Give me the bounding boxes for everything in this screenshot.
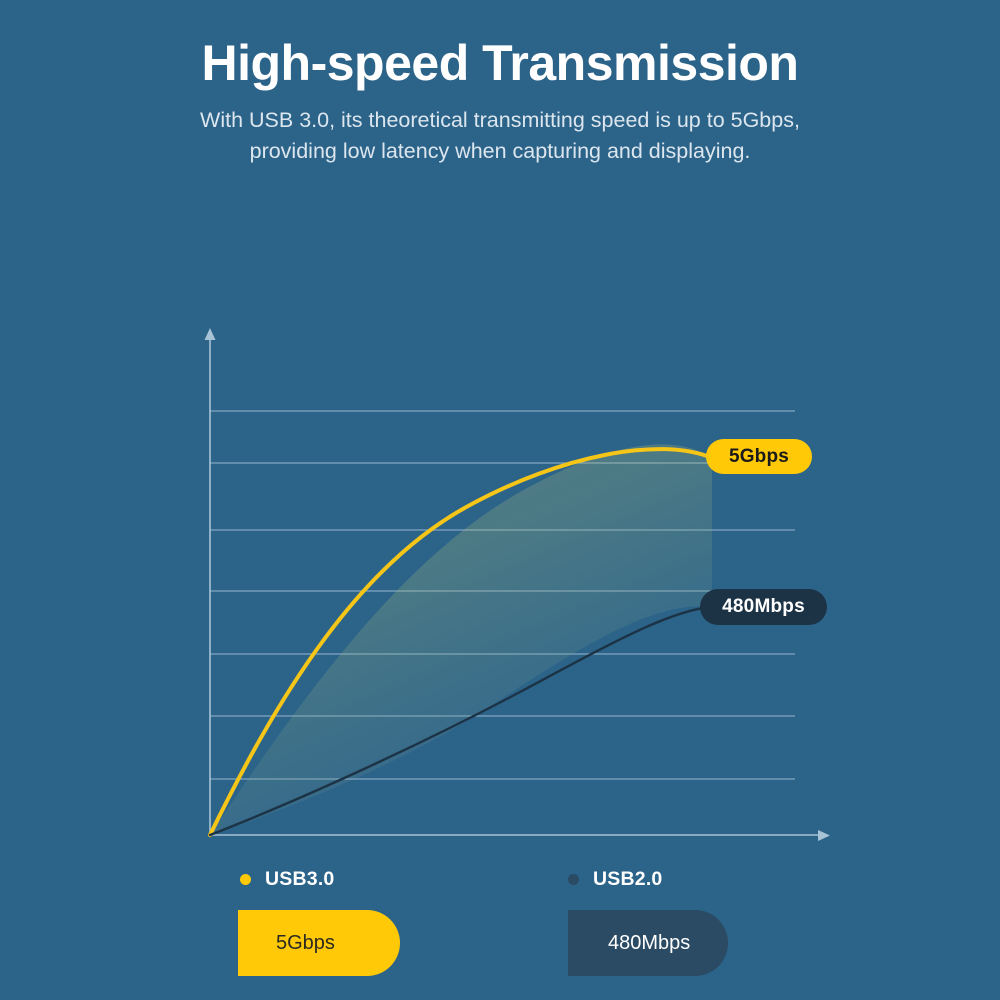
usb3-curve (210, 449, 712, 835)
promo-page: High-speed Transmission With USB 3.0, it… (0, 0, 1000, 1000)
page-subtitle: With USB 3.0, its theoretical transmitti… (0, 105, 1000, 166)
chart-gridlines (210, 411, 795, 779)
chart-legend: USB3.0 USB2.0 (0, 866, 1000, 896)
usb3-speed-badge-label: 5Gbps (729, 446, 789, 468)
speed-bars: 5Gbps 480Mbps (0, 910, 1000, 980)
y-axis-arrow-icon (205, 328, 216, 340)
header: High-speed Transmission With USB 3.0, it… (0, 36, 1000, 166)
legend-label-usb2: USB2.0 (593, 868, 662, 891)
usb3-speed-bar-label: 5Gbps (276, 932, 335, 955)
subtitle-line-2: providing low latency when capturing and… (0, 136, 1000, 167)
legend-label-usb3: USB3.0 (265, 868, 334, 891)
page-title: High-speed Transmission (0, 36, 1000, 91)
chart-area-fill (210, 444, 712, 835)
usb2-speed-bar-label: 480Mbps (608, 932, 690, 955)
legend-dot-icon-usb3 (240, 874, 251, 885)
subtitle-line-1: With USB 3.0, its theoretical transmitti… (0, 105, 1000, 136)
legend-item-usb3: USB3.0 (240, 866, 334, 892)
usb2-speed-bar: 480Mbps (568, 910, 728, 976)
legend-dot-icon-usb2 (568, 874, 579, 885)
x-axis-arrow-icon (818, 830, 830, 841)
usb2-curve (210, 607, 712, 835)
legend-item-usb2: USB2.0 (568, 866, 662, 892)
usb3-speed-badge: 5Gbps (706, 439, 812, 474)
usb2-speed-badge-label: 480Mbps (722, 596, 805, 618)
usb2-speed-badge: 480Mbps (700, 589, 827, 625)
usb3-speed-bar: 5Gbps (238, 910, 400, 976)
